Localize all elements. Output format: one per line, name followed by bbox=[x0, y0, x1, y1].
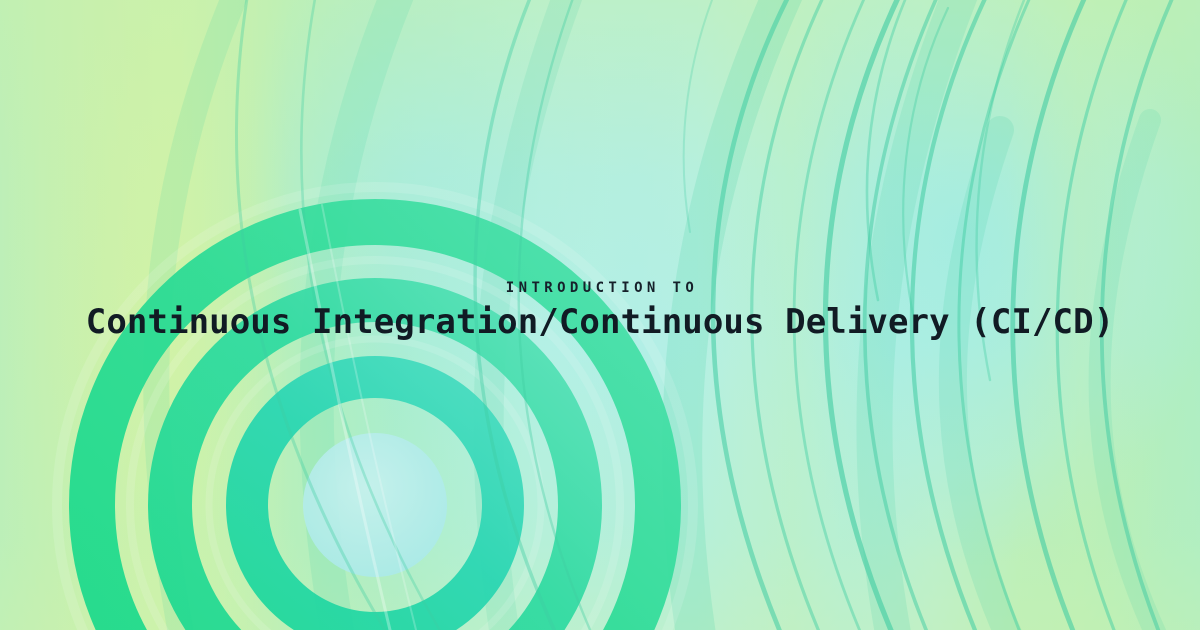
bullseye-halo-group bbox=[57, 187, 693, 630]
corner-wash-group bbox=[953, 120, 1190, 630]
title-text-block: INTRODUCTION TO Continuous Integration/C… bbox=[0, 278, 1200, 342]
core-crossing-arc-group bbox=[300, 205, 416, 630]
title-card: INTRODUCTION TO Continuous Integration/C… bbox=[0, 0, 1200, 630]
middle-ring bbox=[170, 300, 580, 630]
inner-ring bbox=[247, 377, 503, 630]
core-disc bbox=[303, 433, 447, 577]
page-title: Continuous Integration/Continuous Delive… bbox=[0, 302, 1200, 342]
eyebrow-label: INTRODUCTION TO bbox=[0, 278, 1200, 298]
